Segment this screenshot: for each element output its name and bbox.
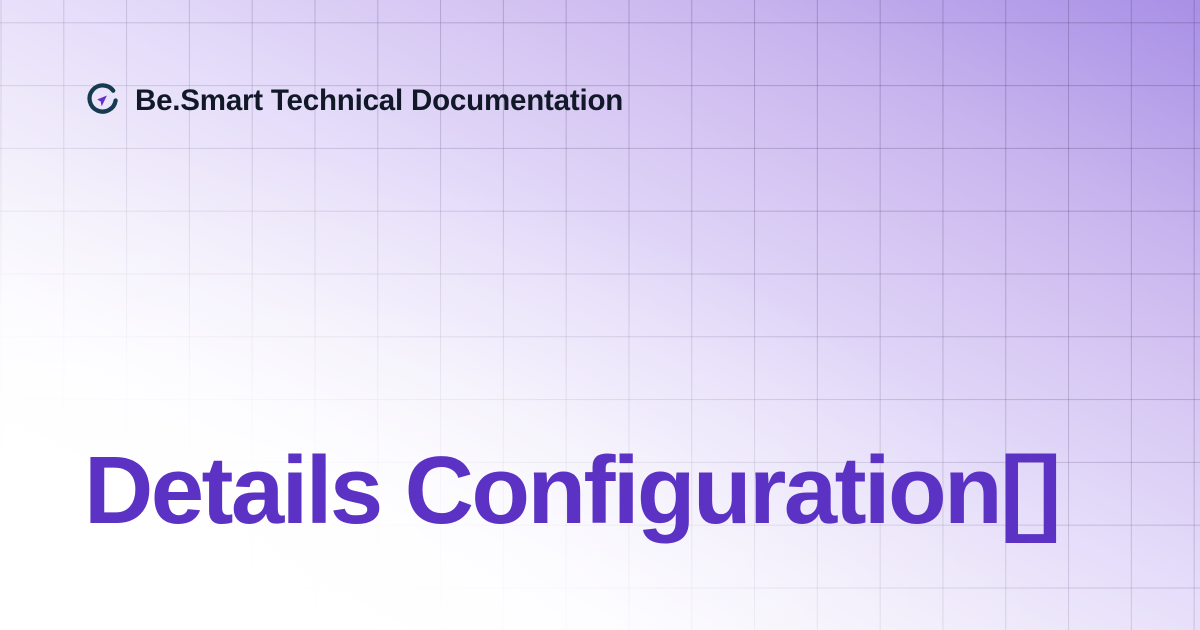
cursor-in-ring-logo-icon — [84, 82, 121, 119]
og-card: Be.Smart Technical Documentation Details… — [0, 0, 1200, 630]
brand-header: Be.Smart Technical Documentation — [84, 82, 623, 119]
brand-name: Be.Smart Technical Documentation — [135, 86, 623, 116]
page-title: Details Configuration[] — [84, 440, 1116, 542]
